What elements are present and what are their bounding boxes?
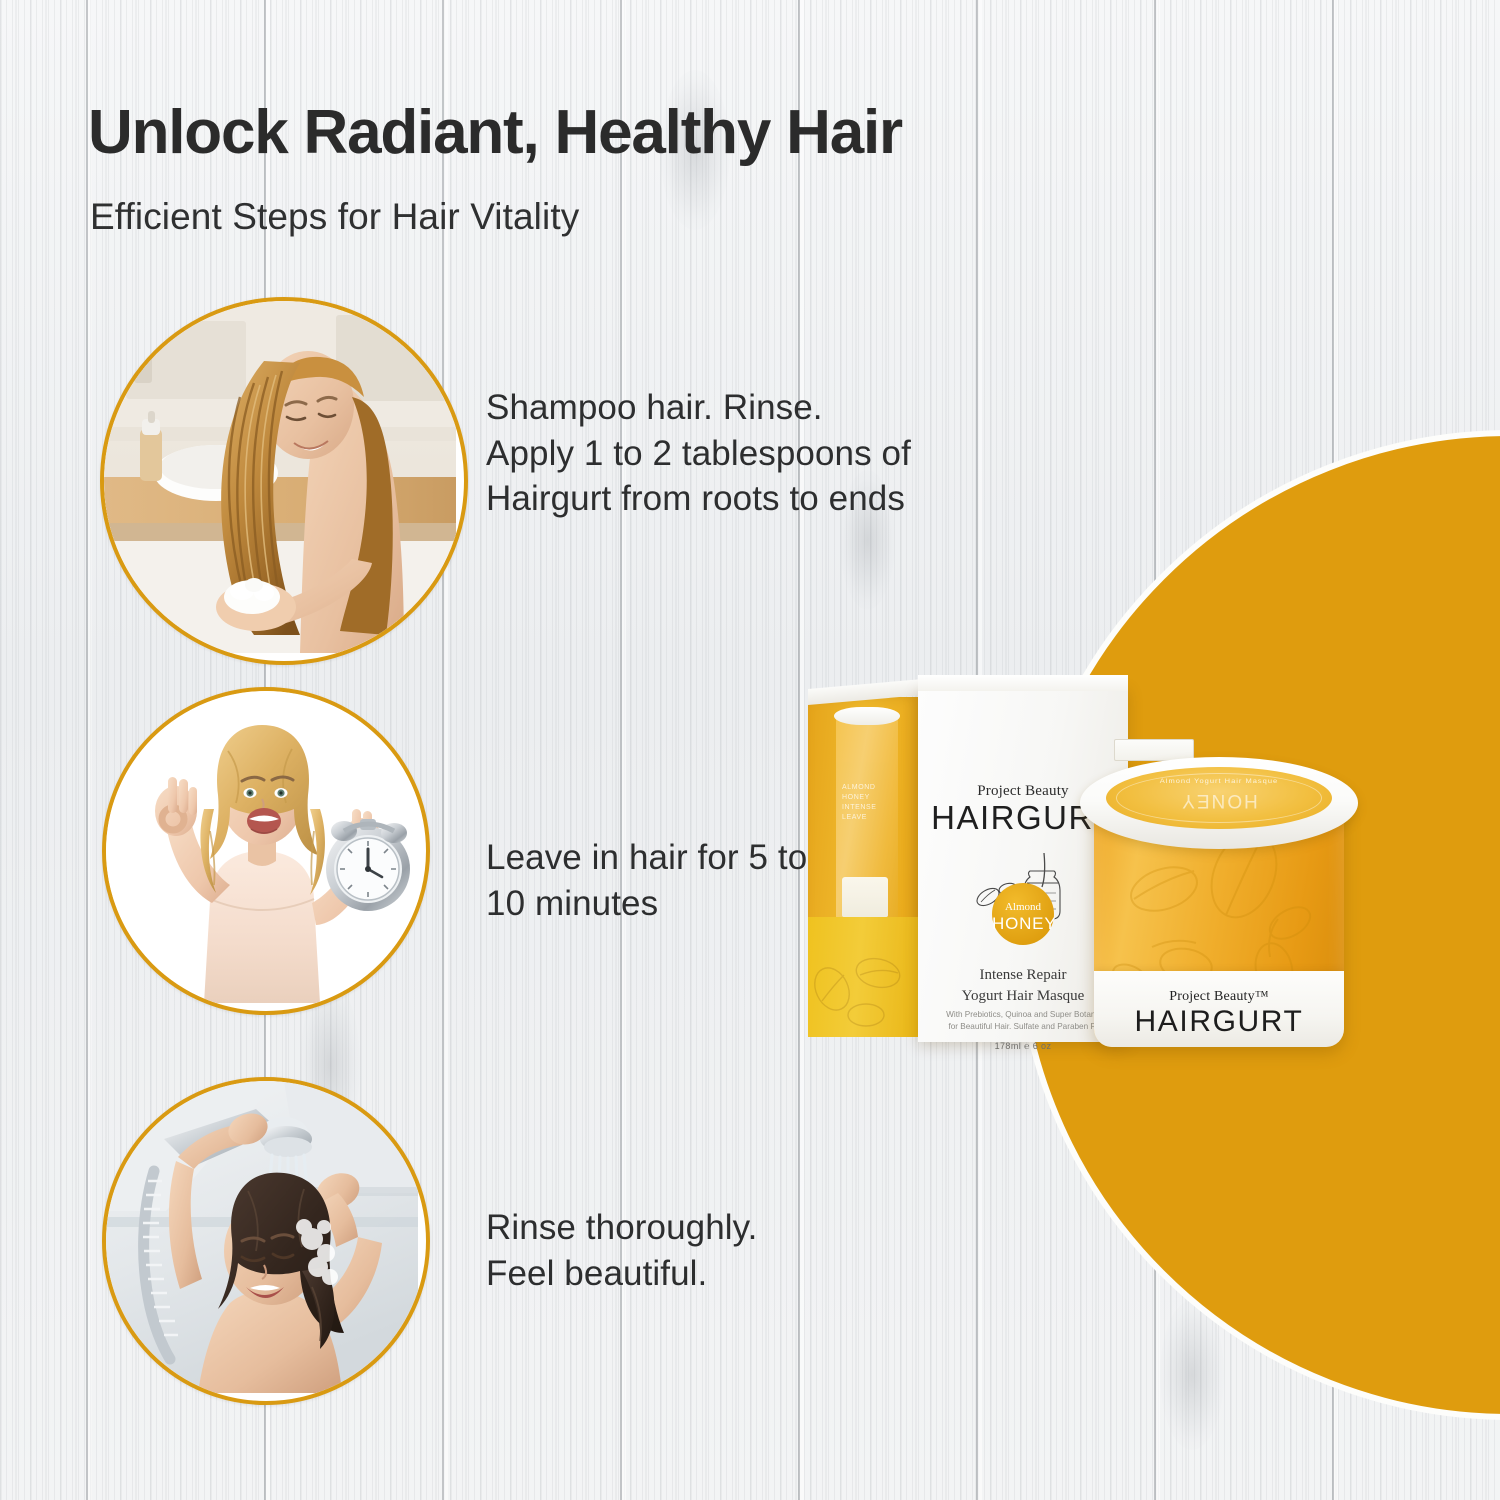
step-1-text: Shampoo hair. Rinse. Apply 1 to 2 tables…	[486, 385, 1086, 522]
step-2-photo-circle	[102, 687, 430, 1015]
photo-woman-rinsing-in-shower	[106, 1081, 426, 1401]
carton-bottom-flap	[808, 917, 920, 1037]
almond-honey-badge: Almond HONEY	[992, 883, 1054, 945]
photo-woman-with-alarm-clock	[106, 691, 426, 1011]
tub-lid-inner: Almond Yogurt Hair Masque HONEY	[1106, 767, 1332, 829]
infographic-canvas: Unlock Radiant, Healthy Hair Efficient S…	[0, 0, 1500, 1500]
badge-almond-label: Almond	[992, 883, 1054, 913]
flap-botanical-sketch	[808, 917, 920, 1037]
carton-window-text: ALMOND HONEY INTENSE LEAVE	[842, 783, 886, 824]
page-title: Unlock Radiant, Healthy Hair	[88, 100, 902, 165]
photo-woman-applying-shampoo	[104, 301, 464, 661]
tub-lid-main-text: HONEY	[1106, 789, 1332, 811]
step-3-text: Rinse thoroughly. Feel beautiful.	[486, 1205, 1006, 1296]
page-subtitle: Efficient Steps for Hair Vitality	[90, 196, 579, 238]
tub-lid: Almond Yogurt Hair Masque HONEY	[1080, 757, 1358, 849]
tub-brand-small: Project Beauty™	[1094, 989, 1344, 1005]
step-3-photo-circle	[102, 1077, 430, 1405]
tub-lid-top-text: Almond Yogurt Hair Masque	[1106, 776, 1332, 784]
badge-honey-label: HONEY	[992, 913, 1054, 934]
tub-label: Project Beauty™ HAIRGURT	[1094, 971, 1344, 1047]
product-tub: Project Beauty™ HAIRGURT Almond Yogurt H…	[1080, 753, 1358, 1053]
tub-brand-big: HAIRGURT	[1094, 1005, 1344, 1039]
product-shot: ALMOND HONEY INTENSE LEAVE Project Beaut…	[790, 665, 1490, 1095]
carton-window-tub-lid	[834, 707, 900, 725]
carton-top-edge	[918, 675, 1128, 691]
step-1-photo-circle	[100, 297, 468, 665]
